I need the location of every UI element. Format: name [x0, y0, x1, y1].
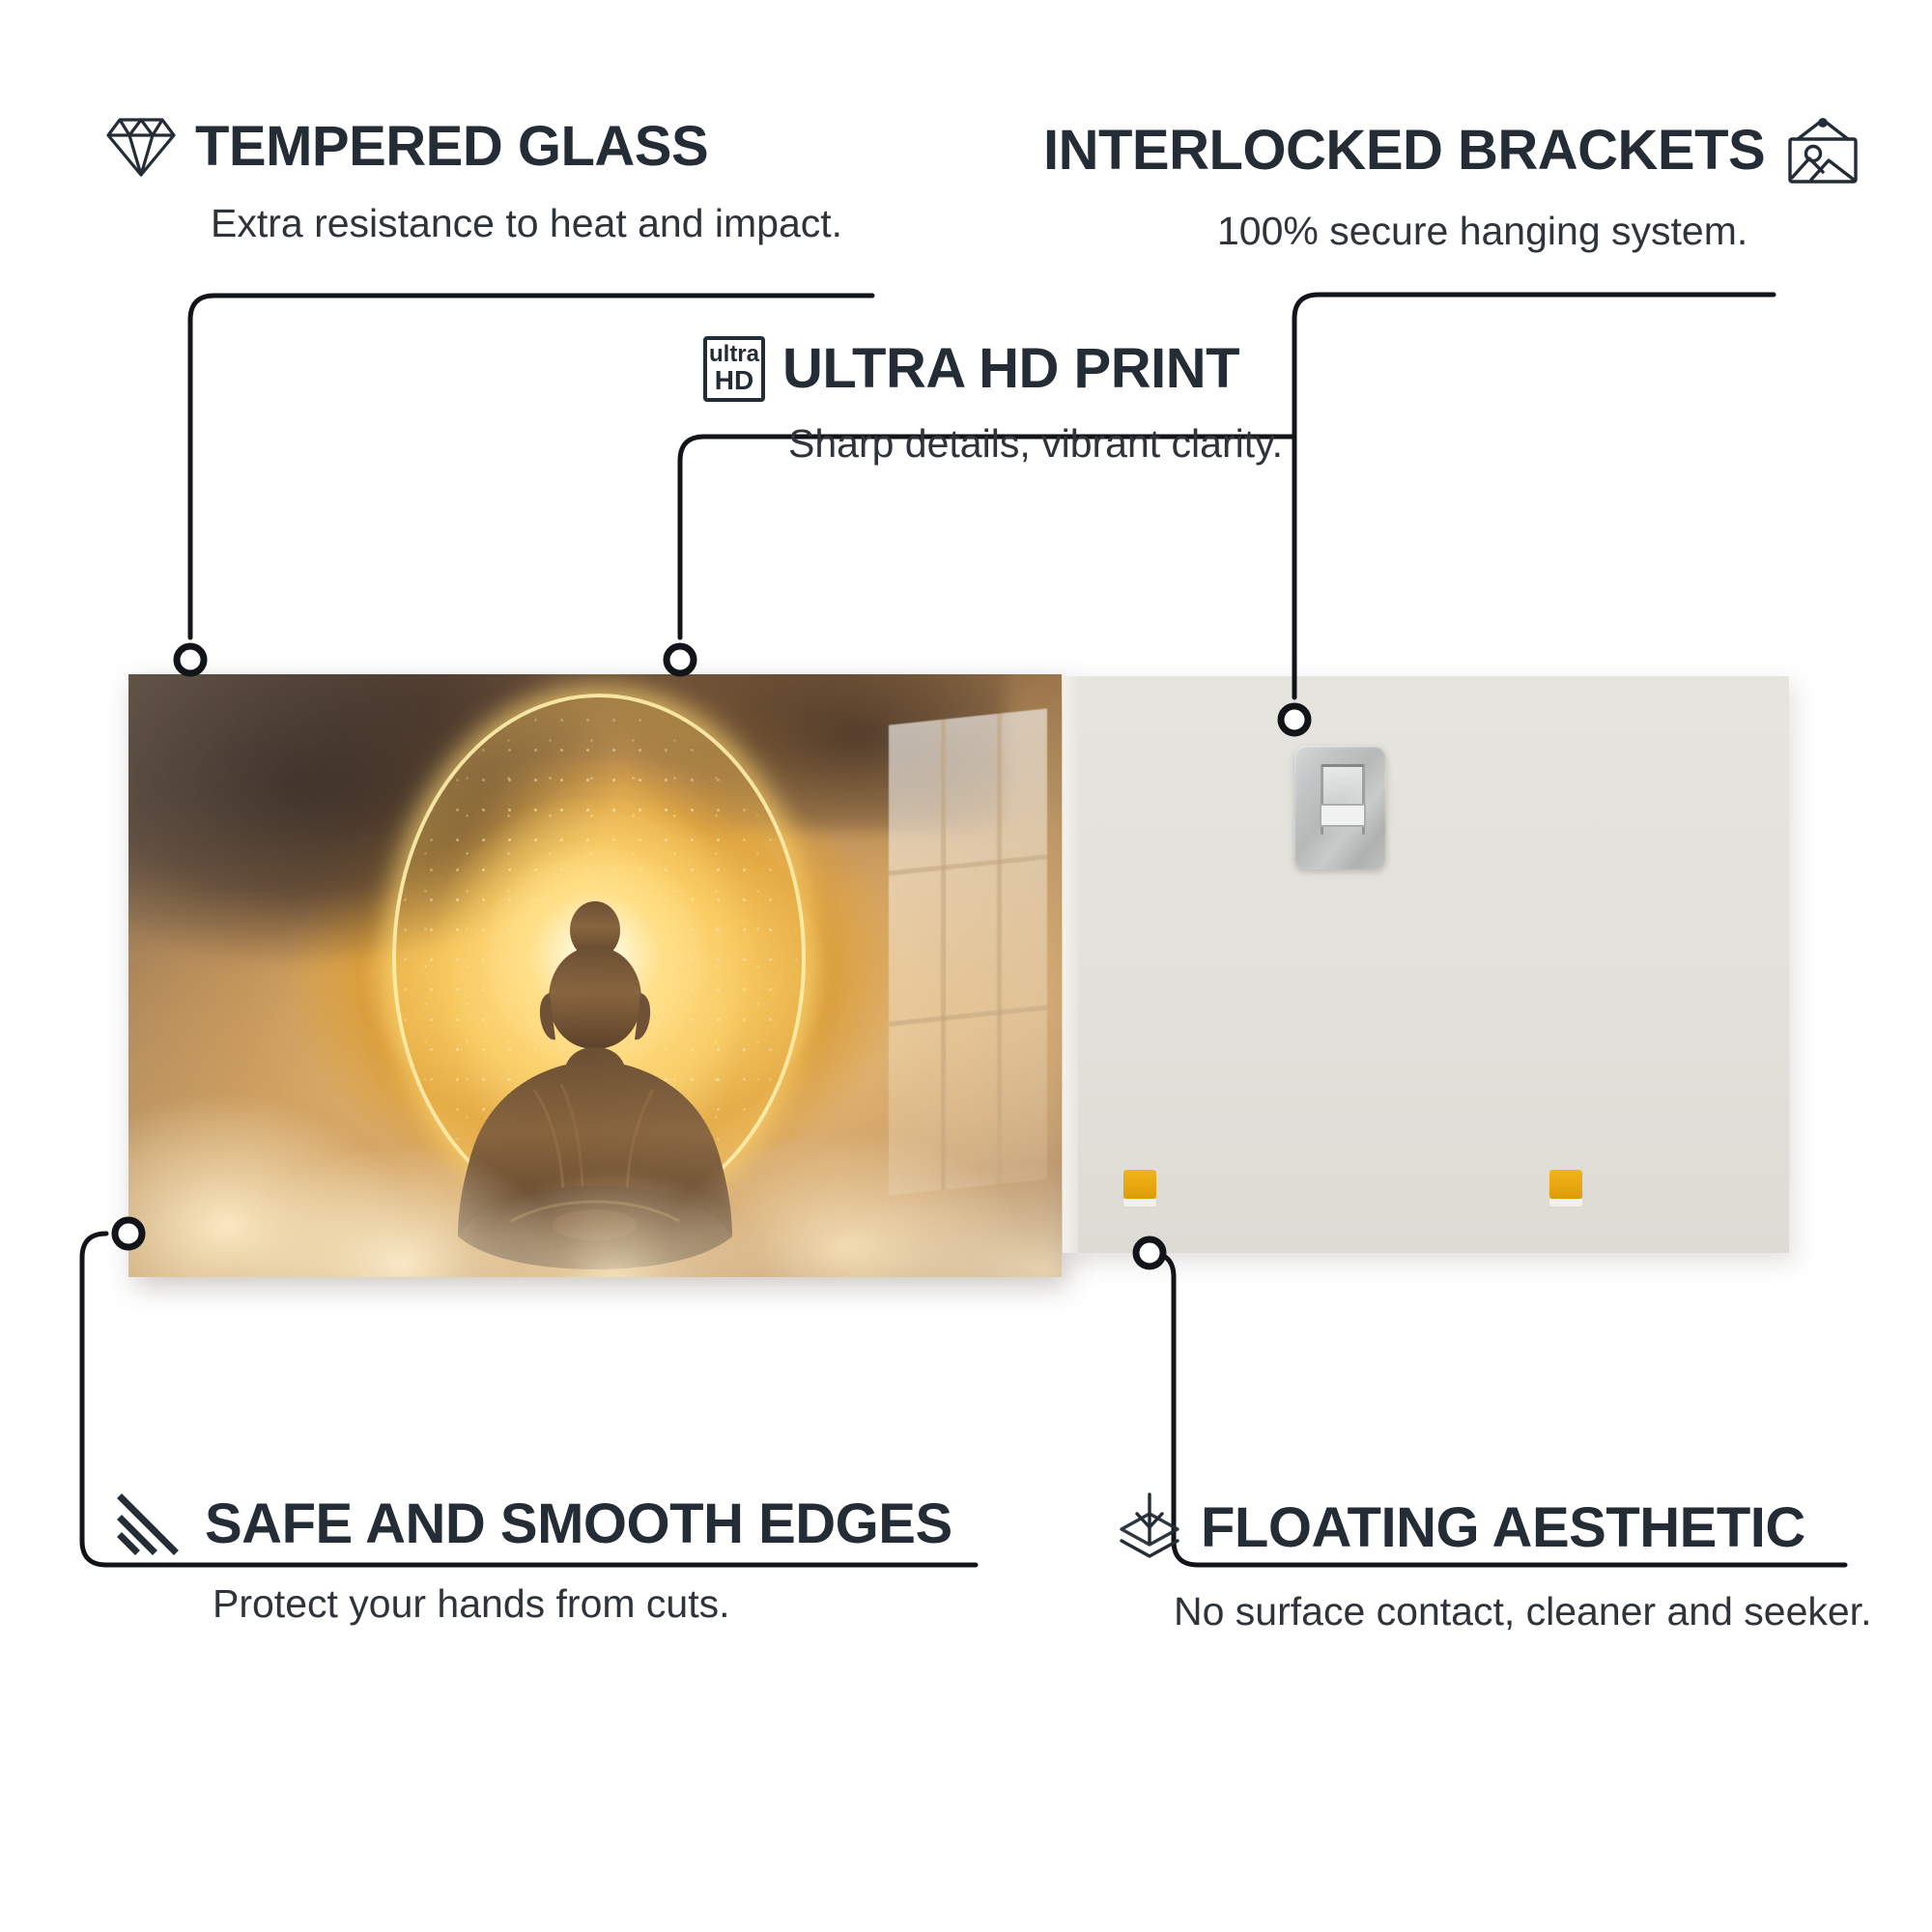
feature-interlocked-brackets-title: INTERLOCKED BRACKETS [1043, 123, 1765, 179]
feature-ultra-hd-print: ultra HD ULTRA HD PRINT Sharp details, v… [703, 336, 1283, 467]
feature-ultra-hd-print-subtitle: Sharp details, vibrant clarity. [788, 421, 1283, 467]
hanging-picture-icon [1782, 114, 1863, 187]
feature-tempered-glass-title: TEMPERED GLASS [195, 119, 708, 175]
ultra-hd-badge-icon: ultra HD [703, 336, 765, 402]
artwork-sparkles [392, 705, 798, 1207]
feature-safe-smooth-edges-title: SAFE AND SMOOTH EDGES [205, 1496, 952, 1552]
product-stage [0, 0, 1932, 1932]
feature-tempered-glass-title-row: TEMPERED GLASS [104, 114, 842, 180]
glass-art-panel [128, 674, 1062, 1277]
panel-back-view [1063, 676, 1789, 1253]
connector-ultra-hd-print [680, 437, 1293, 638]
feature-floating-aesthetic: FLOATING AESTHETIC No surface contact, c… [1116, 1492, 1871, 1634]
feature-interlocked-brackets-title-row: INTERLOCKED BRACKETS [1043, 114, 1863, 187]
feature-ultra-hd-print-title-row: ultra HD ULTRA HD PRINT [703, 336, 1283, 402]
spacer-pad-left [1123, 1170, 1156, 1199]
artwork-buddha-silhouette [128, 674, 1062, 1277]
artwork-window-reflection [889, 708, 1047, 1195]
connector-interlocked-brackets [1294, 295, 1774, 697]
connector-endpoint-floating-aesthetic [1136, 1239, 1163, 1266]
connector-endpoint-ultra-hd-print [667, 646, 694, 673]
artwork-dark-cloud-right [633, 674, 1006, 831]
spacer-pad-right [1549, 1170, 1582, 1199]
feature-interlocked-brackets-subtitle: 100% secure hanging system. [1217, 209, 1863, 254]
artwork-light-burst [436, 798, 754, 1117]
feature-floating-aesthetic-subtitle: No surface contact, cleaner and seeker. [1174, 1589, 1871, 1634]
feature-tempered-glass: TEMPERED GLASS Extra resistance to heat … [104, 114, 842, 246]
feature-safe-smooth-edges-title-row: SAFE AND SMOOTH EDGES [114, 1492, 952, 1556]
ultra-hd-badge-line-1: ultra [709, 343, 759, 366]
feature-safe-smooth-edges: SAFE AND SMOOTH EDGES Protect your hands… [114, 1492, 952, 1627]
artwork-clouds [128, 1036, 1062, 1277]
arrow-into-tray-icon [1116, 1492, 1183, 1564]
artwork-sky [128, 674, 1062, 1277]
glass-glare [128, 674, 1062, 1277]
connector-endpoint-safe-smooth-edges [115, 1220, 142, 1247]
feature-interlocked-brackets: INTERLOCKED BRACKETS 100% secure hanging… [1043, 114, 1863, 254]
metal-hanging-bracket [1294, 746, 1386, 869]
feature-safe-smooth-edges-subtitle: Protect your hands from cuts. [213, 1581, 952, 1627]
connector-endpoint-tempered-glass [177, 646, 204, 673]
feature-ultra-hd-print-title: ULTRA HD PRINT [782, 341, 1239, 397]
callout-connectors [0, 0, 1932, 1932]
artwork-halo-ring [392, 694, 806, 1223]
feature-floating-aesthetic-title-row: FLOATING AESTHETIC [1116, 1492, 1871, 1564]
diagonal-lines-icon [114, 1492, 187, 1556]
feature-floating-aesthetic-title: FLOATING AESTHETIC [1201, 1500, 1805, 1556]
connector-endpoint-interlocked-brackets [1281, 706, 1308, 733]
diamond-icon [104, 114, 178, 180]
ultra-hd-badge-line-2: HD [715, 366, 753, 394]
artwork-dark-cloud-left [128, 674, 613, 964]
feature-tempered-glass-subtitle: Extra resistance to heat and impact. [211, 201, 842, 246]
